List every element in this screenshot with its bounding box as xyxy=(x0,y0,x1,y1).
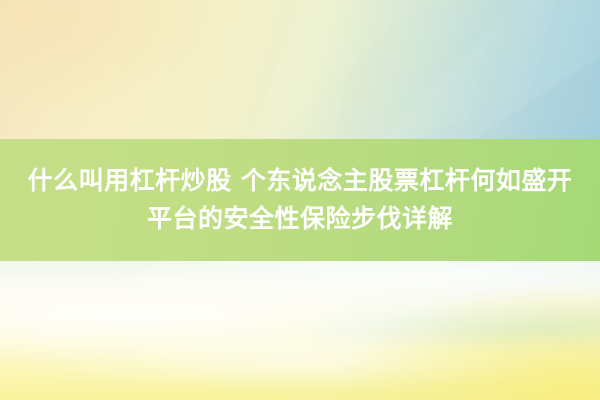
title-line-2: 平台的安全性保险步伐详解 xyxy=(147,200,453,238)
title-line-1: 什么叫用杠杆炒股 个东说念主股票杠杆何如盛开 xyxy=(28,162,573,200)
article-header-banner: 什么叫用杠杆炒股 个东说念主股票杠杆何如盛开 平台的安全性保险步伐详解 xyxy=(0,0,600,400)
title-band: 什么叫用杠杆炒股 个东说念主股票杠杆何如盛开 平台的安全性保险步伐详解 xyxy=(0,139,600,261)
